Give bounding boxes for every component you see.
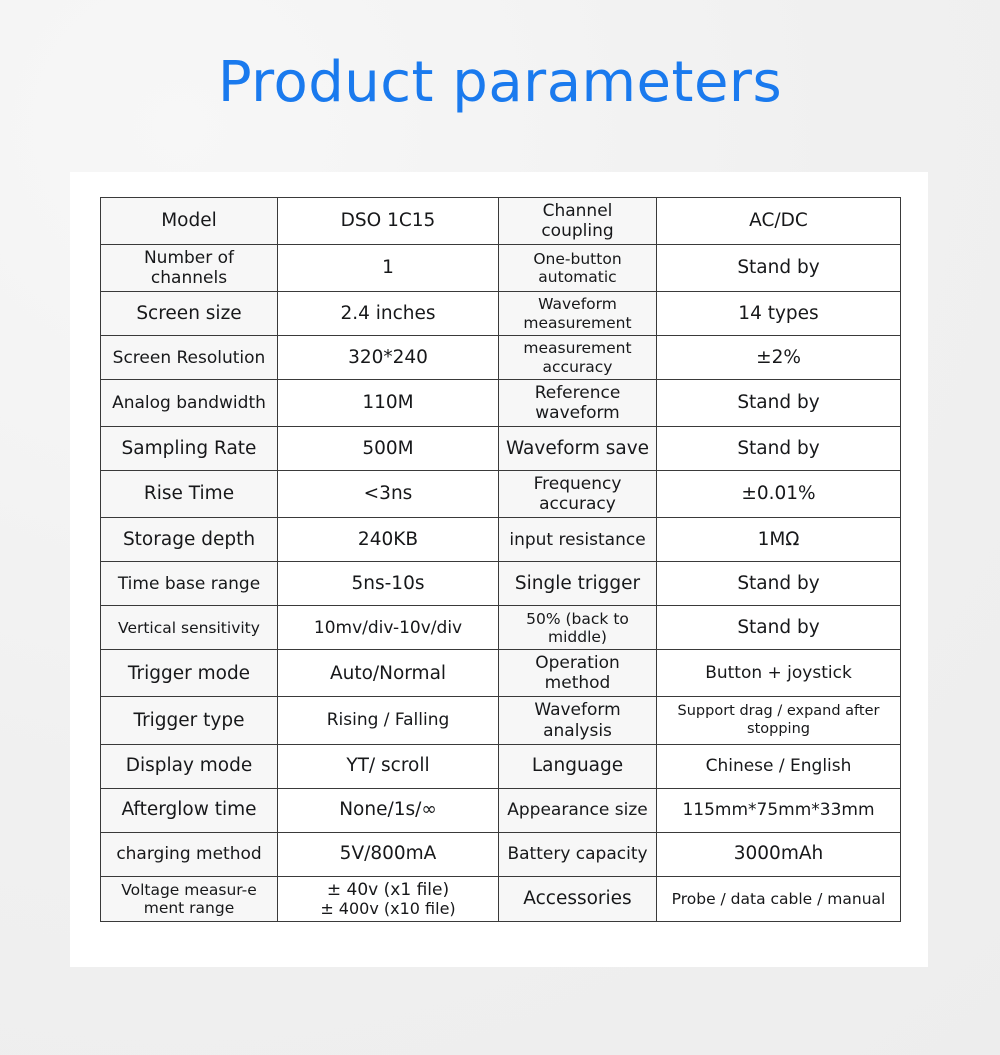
spec-label-right: Reference waveform — [499, 380, 657, 427]
spec-value-right: ±0.01% — [657, 471, 901, 518]
spec-label-right: Single trigger — [499, 562, 657, 606]
product-parameters-table: ModelDSO 1C15Channel couplingAC/DCNumber… — [100, 197, 901, 922]
spec-label-right-text: Single trigger — [505, 573, 650, 595]
spec-label-right-text: Appearance size — [505, 800, 650, 820]
spec-value-right-text: 115mm*75mm*33mm — [663, 800, 894, 820]
spec-label-left-text: Voltage measur-e ment range — [107, 881, 271, 918]
spec-label-left-text: charging method — [107, 844, 271, 864]
spec-value-right-text: Stand by — [663, 392, 894, 414]
spec-label-right-text: Reference waveform — [505, 383, 650, 423]
spec-label-left: Analog bandwidth — [101, 380, 278, 427]
spec-value-left: 500M — [278, 427, 499, 471]
spec-label-right-text: Waveform save — [505, 438, 650, 460]
spec-value-right-text: Probe / data cable / manual — [663, 890, 894, 908]
spec-value-left-text: 320*240 — [284, 347, 492, 369]
spec-label-left-text: Model — [107, 210, 271, 232]
spec-value-left: 320*240 — [278, 336, 499, 380]
table-row: Rise Time<3nsFrequency accuracy±0.01% — [101, 471, 901, 518]
spec-label-left-text: Vertical sensitivity — [107, 619, 271, 637]
spec-value-right-text: Stand by — [663, 573, 894, 595]
spec-label-right-text: measurement accuracy — [505, 339, 650, 376]
spec-label-right-text: Waveform measurement — [505, 295, 650, 332]
spec-value-left: 5ns-10s — [278, 562, 499, 606]
spec-label-right: Language — [499, 744, 657, 788]
page-title: Product parameters — [0, 52, 1000, 114]
spec-value-left-text: 240KB — [284, 529, 492, 551]
spec-label-left: Sampling Rate — [101, 427, 278, 471]
table-row: Screen Resolution320*240measurement accu… — [101, 336, 901, 380]
spec-label-left-text: Display mode — [107, 755, 271, 777]
spec-label-left: Afterglow time — [101, 788, 278, 832]
table-row: Number of channels1One-button automaticS… — [101, 245, 901, 292]
spec-value-left-text: 1 — [284, 257, 492, 279]
spec-label-right-text: Battery capacity — [505, 844, 650, 864]
spec-value-left: 2.4 inches — [278, 292, 499, 336]
spec-label-left-text: Trigger type — [107, 710, 271, 732]
table-row: Trigger modeAuto/NormalOperation methodB… — [101, 650, 901, 697]
spec-value-right: ±2% — [657, 336, 901, 380]
spec-label-right: Appearance size — [499, 788, 657, 832]
spec-label-right-text: Accessories — [505, 888, 650, 910]
spec-label-right: Waveform save — [499, 427, 657, 471]
spec-label-right: 50% (back to middle) — [499, 606, 657, 650]
spec-label-left: Display mode — [101, 744, 278, 788]
spec-value-left-text: ± 40v (x1 file) — [284, 880, 492, 900]
spec-value-left: DSO 1C15 — [278, 198, 499, 245]
spec-value-right-text: AC/DC — [663, 210, 894, 232]
spec-value-right: Probe / data cable / manual — [657, 876, 901, 922]
spec-value-left-text: Auto/Normal — [284, 663, 492, 685]
table-row: Storage depth240KBinput resistance1MΩ — [101, 518, 901, 562]
spec-value-left: 10mv/div-10v/div — [278, 606, 499, 650]
spec-value-right-text: Stand by — [663, 617, 894, 639]
spec-label-right-text: 50% (back to middle) — [505, 610, 650, 647]
spec-label-left: Number of channels — [101, 245, 278, 292]
spec-label-left: Screen Resolution — [101, 336, 278, 380]
spec-label-right: Operation method — [499, 650, 657, 697]
spec-label-left: Model — [101, 198, 278, 245]
table-row: Display modeYT/ scrollLanguageChinese / … — [101, 744, 901, 788]
spec-value-left-text: 5V/800mA — [284, 843, 492, 865]
spec-label-right: Battery capacity — [499, 832, 657, 876]
spec-value-right: Button + joystick — [657, 650, 901, 697]
spec-label-left-text: Analog bandwidth — [107, 393, 271, 413]
spec-label-left: Vertical sensitivity — [101, 606, 278, 650]
spec-value-right: Chinese / English — [657, 744, 901, 788]
spec-label-left: Rise Time — [101, 471, 278, 518]
spec-label-left-text: Screen size — [107, 303, 271, 325]
spec-value-right: Stand by — [657, 380, 901, 427]
spec-label-left: Voltage measur-e ment range — [101, 876, 278, 922]
spec-value-right: 14 types — [657, 292, 901, 336]
spec-label-left: Time base range — [101, 562, 278, 606]
spec-label-right: Channel coupling — [499, 198, 657, 245]
spec-label-right-text: input resistance — [505, 530, 650, 550]
spec-label-left-text: Screen Resolution — [107, 348, 271, 368]
spec-value-left-text: 2.4 inches — [284, 303, 492, 325]
spec-value-right: 1MΩ — [657, 518, 901, 562]
spec-value-left-text: YT/ scroll — [284, 755, 492, 777]
table-row: ModelDSO 1C15Channel couplingAC/DC — [101, 198, 901, 245]
spec-value-left: ± 40v (x1 file)± 400v (x10 file) — [278, 876, 499, 922]
spec-value-left: <3ns — [278, 471, 499, 518]
spec-label-left-text: Time base range — [107, 574, 271, 594]
spec-label-right-text: Frequency accuracy — [505, 474, 650, 514]
spec-value-right-text: Button + joystick — [663, 663, 894, 683]
spec-label-left-text: Trigger mode — [107, 663, 271, 685]
spec-value-left: Auto/Normal — [278, 650, 499, 697]
spec-label-right-text: Channel coupling — [505, 201, 650, 241]
spec-label-left-text: Afterglow time — [107, 799, 271, 821]
spec-value-right: Stand by — [657, 245, 901, 292]
spec-value-left: YT/ scroll — [278, 744, 499, 788]
spec-value-right: Stand by — [657, 427, 901, 471]
table-row: Analog bandwidth110MReference waveformSt… — [101, 380, 901, 427]
spec-label-left-text: Number of channels — [107, 248, 271, 288]
spec-label-right-text: One-button automatic — [505, 250, 650, 287]
spec-label-left: charging method — [101, 832, 278, 876]
spec-value-left-text: DSO 1C15 — [284, 210, 492, 232]
spec-label-left: Screen size — [101, 292, 278, 336]
spec-value-right-text: 3000mAh — [663, 843, 894, 865]
spec-label-right: Waveform analysis — [499, 697, 657, 744]
spec-label-right: Frequency accuracy — [499, 471, 657, 518]
spec-table-container: ModelDSO 1C15Channel couplingAC/DCNumber… — [100, 197, 900, 922]
spec-value-right-text: Stand by — [663, 257, 894, 279]
table-row: charging method5V/800mABattery capacity3… — [101, 832, 901, 876]
spec-value-left-text: 10mv/div-10v/div — [284, 618, 492, 638]
spec-label-right-text: Operation method — [505, 653, 650, 693]
table-row: Trigger typeRising / FallingWaveform ana… — [101, 697, 901, 744]
spec-label-right: input resistance — [499, 518, 657, 562]
spec-label-left: Trigger type — [101, 697, 278, 744]
spec-value-left: 1 — [278, 245, 499, 292]
spec-value-right: Support drag / expand after stopping — [657, 697, 901, 744]
spec-value-right: 115mm*75mm*33mm — [657, 788, 901, 832]
table-row: Afterglow timeNone/1s/∞Appearance size11… — [101, 788, 901, 832]
spec-value-left: Rising / Falling — [278, 697, 499, 744]
spec-label-right: Accessories — [499, 876, 657, 922]
spec-value-left-text: Rising / Falling — [284, 710, 492, 730]
spec-value-left-text: 5ns-10s — [284, 573, 492, 595]
spec-value-left: 240KB — [278, 518, 499, 562]
spec-value-right-text: Stand by — [663, 438, 894, 460]
spec-value-left-text: 110M — [284, 392, 492, 414]
spec-value-left: 110M — [278, 380, 499, 427]
spec-value-right: AC/DC — [657, 198, 901, 245]
table-row: Sampling Rate500MWaveform saveStand by — [101, 427, 901, 471]
spec-value-left-text-line2: ± 400v (x10 file) — [284, 900, 492, 919]
spec-value-left: 5V/800mA — [278, 832, 499, 876]
spec-value-right-text: ±2% — [663, 347, 894, 369]
spec-value-right: 3000mAh — [657, 832, 901, 876]
spec-label-left-text: Rise Time — [107, 483, 271, 505]
spec-label-right-text: Language — [505, 755, 650, 777]
spec-label-right: One-button automatic — [499, 245, 657, 292]
spec-value-left: None/1s/∞ — [278, 788, 499, 832]
table-row: Voltage measur-e ment range± 40v (x1 fil… — [101, 876, 901, 922]
spec-value-right: Stand by — [657, 562, 901, 606]
spec-value-right-text: Support drag / expand after stopping — [663, 703, 894, 737]
spec-label-right-text: Waveform analysis — [505, 700, 650, 740]
spec-value-left-text: 500M — [284, 438, 492, 460]
table-row: Vertical sensitivity10mv/div-10v/div50% … — [101, 606, 901, 650]
spec-value-right-text: ±0.01% — [663, 483, 894, 505]
spec-value-right: Stand by — [657, 606, 901, 650]
spec-label-left-text: Sampling Rate — [107, 438, 271, 460]
spec-value-right-text: 1MΩ — [663, 529, 894, 551]
spec-value-right-text: 14 types — [663, 303, 894, 325]
table-row: Screen size2.4 inchesWaveform measuremen… — [101, 292, 901, 336]
table-row: Time base range5ns-10sSingle triggerStan… — [101, 562, 901, 606]
spec-value-right-text: Chinese / English — [663, 756, 894, 776]
spec-label-right: measurement accuracy — [499, 336, 657, 380]
spec-label-left: Trigger mode — [101, 650, 278, 697]
spec-label-left: Storage depth — [101, 518, 278, 562]
spec-label-left-text: Storage depth — [107, 529, 271, 551]
spec-label-right: Waveform measurement — [499, 292, 657, 336]
spec-value-left-text: None/1s/∞ — [284, 799, 492, 821]
spec-value-left-text: <3ns — [284, 483, 492, 505]
